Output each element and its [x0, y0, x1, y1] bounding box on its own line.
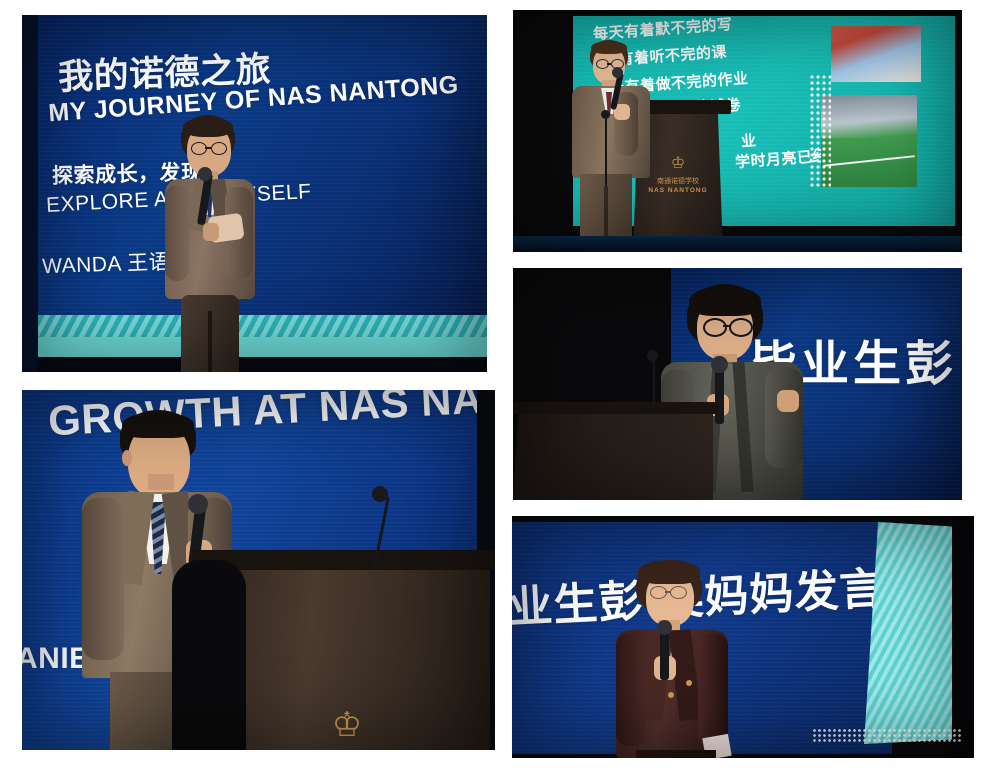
- slide-hatch-panel: [864, 522, 952, 744]
- slide-presenter: ANIE: [22, 642, 90, 676]
- panel-top-right: 每天有着默不完的写 天有着听不完的课 天有着做不完的作业 有着写不完的试卷 业 …: [513, 10, 962, 252]
- crown-icon: ♔: [653, 155, 703, 171]
- panel-top-left: 我的诺德之旅 MY JOURNEY OF NAS NANTONG 探索成长，发现…: [22, 15, 487, 372]
- microphone-head-icon: [198, 167, 212, 181]
- slide-dot-grid: [809, 74, 831, 188]
- boom-microphone-icon: [605, 116, 607, 186]
- photo-collage: 我的诺德之旅 MY JOURNEY OF NAS NANTONG 探索成长，发现…: [0, 0, 1000, 768]
- panel-bottom-left: GROWTH AT NAS NA ANIE: [22, 390, 495, 750]
- slide-photo-classroom: [831, 26, 921, 82]
- crown-icon: ♔: [302, 708, 392, 742]
- slide-line: 业: [740, 129, 757, 151]
- panel-middle-right: 毕业生彭: [513, 268, 962, 500]
- slide-presenter: WANDA 王语: [42, 246, 171, 280]
- speaker-figure: [612, 560, 742, 758]
- boom-microphone-icon: [653, 358, 655, 414]
- panel-bottom-right: 业生彭 奕妈妈发言: [512, 516, 974, 758]
- glasses-icon: [211, 142, 227, 155]
- speaker-figure: [155, 115, 265, 372]
- speaker-figure: [570, 40, 656, 252]
- podium: [513, 408, 713, 500]
